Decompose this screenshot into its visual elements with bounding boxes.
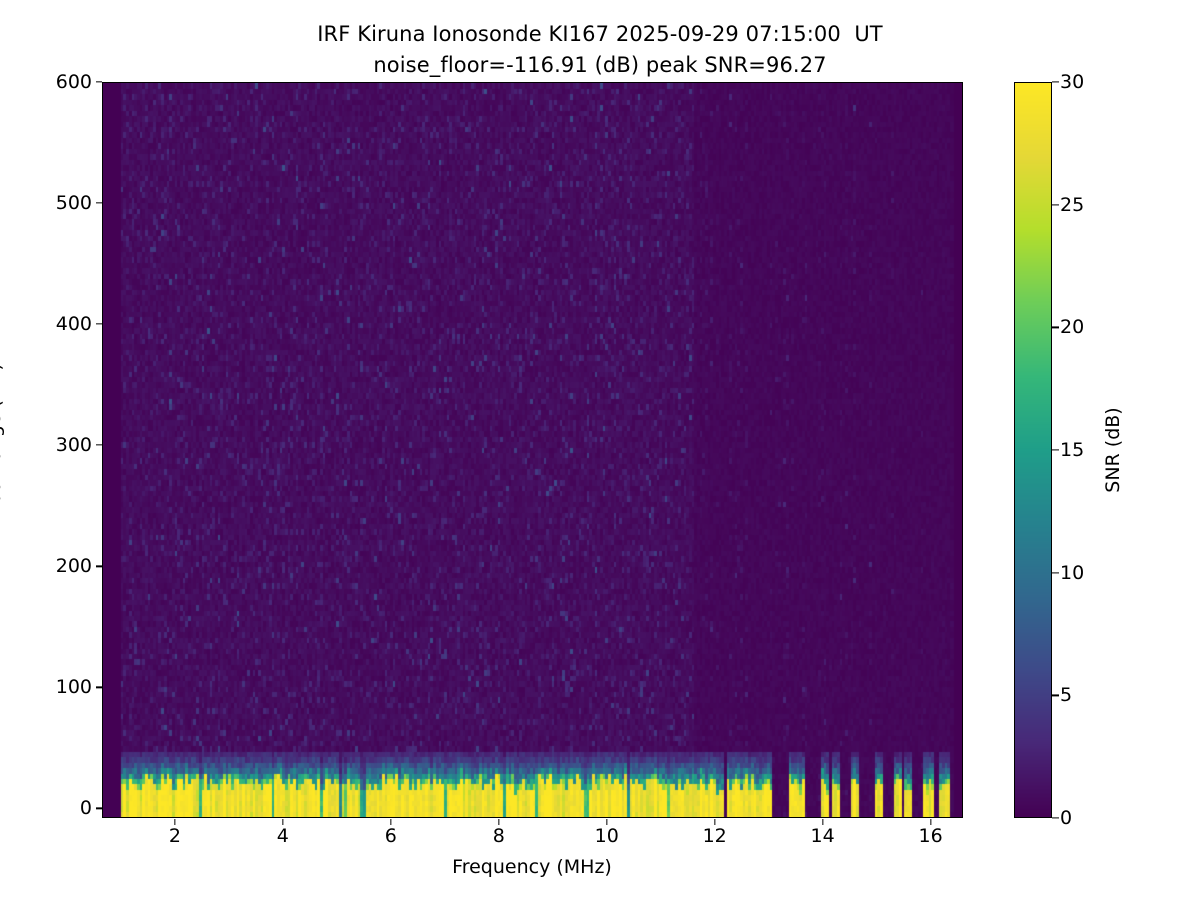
y-tick-mark xyxy=(96,687,103,688)
y-tick-label: 200 xyxy=(56,555,92,577)
y-tick-label: 0 xyxy=(80,797,92,819)
colorbar-tick-label: 5 xyxy=(1060,684,1072,706)
colorbar-tick-mark xyxy=(1052,204,1059,205)
y-tick-label: 100 xyxy=(56,676,92,698)
ionogram-heatmap xyxy=(103,83,962,817)
x-tick-mark xyxy=(714,819,715,826)
x-tick-label: 8 xyxy=(493,825,505,847)
x-tick-label: 4 xyxy=(277,825,289,847)
x-tick-label: 14 xyxy=(811,825,835,847)
colorbar-tick-mark xyxy=(1052,81,1059,82)
y-tick-mark xyxy=(96,566,103,567)
y-tick-label: 300 xyxy=(56,434,92,456)
y-axis-label: Virtual range (km) xyxy=(0,363,5,537)
x-tick-label: 2 xyxy=(169,825,181,847)
x-axis-label: Frequency (MHz) xyxy=(452,856,612,878)
figure-title-line-1: IRF Kiruna Ionosonde KI167 2025-09-29 07… xyxy=(0,22,1200,46)
figure-title-line-2: noise_floor=-116.91 (dB) peak SNR=96.27 xyxy=(0,53,1200,77)
colorbar-tick-label: 10 xyxy=(1060,562,1084,584)
x-tick-label: 6 xyxy=(385,825,397,847)
y-tick-label: 500 xyxy=(56,192,92,214)
x-tick-label: 12 xyxy=(703,825,727,847)
x-tick-mark xyxy=(282,819,283,826)
colorbar-tick-label: 30 xyxy=(1060,71,1084,93)
colorbar xyxy=(1014,82,1052,818)
ionogram-plot-area xyxy=(102,82,963,818)
ionogram-figure: IRF Kiruna Ionosonde KI167 2025-09-29 07… xyxy=(0,0,1200,900)
y-tick-mark xyxy=(96,202,103,203)
x-tick-label: 16 xyxy=(919,825,943,847)
colorbar-tick-label: 0 xyxy=(1060,807,1072,829)
y-tick-mark xyxy=(96,445,103,446)
colorbar-tick-mark xyxy=(1052,695,1059,696)
x-tick-mark xyxy=(174,819,175,826)
y-tick-mark xyxy=(96,808,103,809)
colorbar-tick-label: 20 xyxy=(1060,316,1084,338)
colorbar-tick-mark xyxy=(1052,449,1059,450)
x-tick-mark xyxy=(498,819,499,826)
colorbar-tick-label: 25 xyxy=(1060,194,1084,216)
colorbar-label: SNR (dB) xyxy=(1102,407,1124,492)
x-tick-mark xyxy=(606,819,607,826)
y-tick-mark xyxy=(96,81,103,82)
y-tick-mark xyxy=(96,323,103,324)
x-tick-mark xyxy=(822,819,823,826)
y-tick-label: 400 xyxy=(56,313,92,335)
x-tick-mark xyxy=(390,819,391,826)
colorbar-tick-label: 15 xyxy=(1060,439,1084,461)
x-tick-label: 10 xyxy=(595,825,619,847)
y-tick-label: 600 xyxy=(56,71,92,93)
x-tick-mark xyxy=(930,819,931,826)
colorbar-tick-mark xyxy=(1052,327,1059,328)
colorbar-gradient xyxy=(1015,83,1051,817)
colorbar-tick-mark xyxy=(1052,817,1059,818)
colorbar-tick-mark xyxy=(1052,572,1059,573)
